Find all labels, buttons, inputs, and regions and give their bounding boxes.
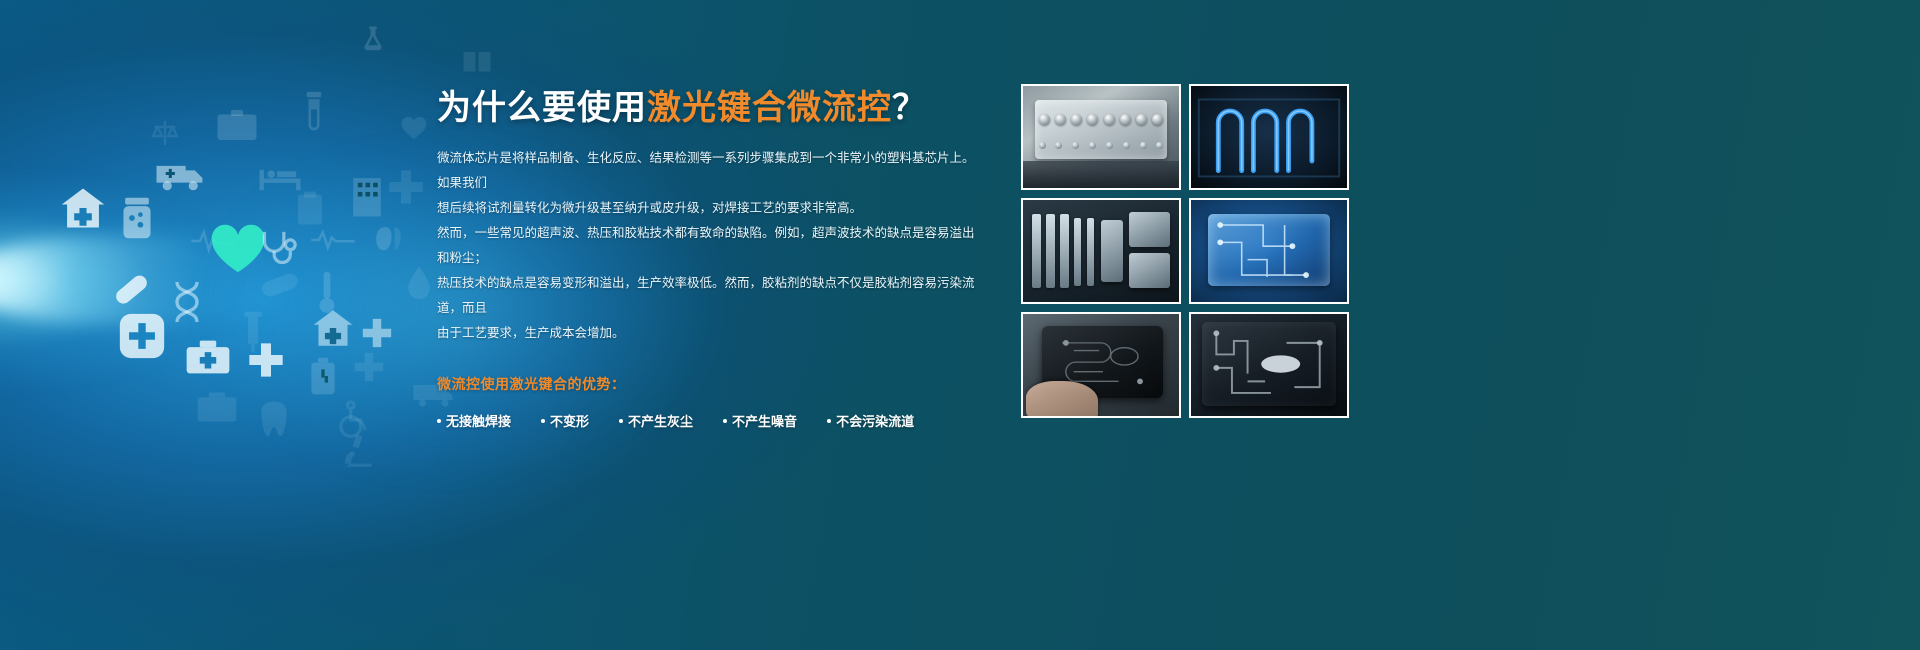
headline-suffix: ？: [892, 89, 927, 127]
blood-drop-icon: [406, 265, 432, 299]
page-title: 为什么要使用激光键合微流控？: [437, 80, 977, 129]
scale-icon: [150, 118, 180, 148]
clipboard-icon: [296, 190, 324, 226]
id-card-icon: [216, 108, 258, 142]
product-photo-grid: [1021, 84, 1349, 418]
body-line-4: 热压技术的缺点是容易变形和溢出，生产效率极低。然而，胶粘剂的缺点不仅是胶粘剂容易…: [437, 271, 977, 321]
list-item: 不变形: [541, 411, 589, 430]
plus-cross-icon: [386, 167, 426, 207]
flask-icon: [358, 18, 388, 60]
bullet-dot-icon: [541, 419, 545, 423]
house-cross-icon: [60, 186, 106, 230]
hospital-bed-icon: [258, 165, 302, 195]
thermometer-icon: [316, 270, 338, 314]
list-item: 不会污染流道: [827, 411, 914, 430]
list-item: 无接触焊接: [437, 411, 511, 430]
list-item: 不产生噪音: [723, 411, 797, 430]
tooth-icon: [258, 400, 290, 438]
bullet-dot-icon: [437, 419, 441, 423]
photo-serpentine-channel-chip[interactable]: [1189, 84, 1349, 190]
house-plus-icon: [312, 308, 354, 348]
bullet-dot-icon: [827, 419, 831, 423]
building-icon: [350, 172, 384, 218]
photo-clear-plastic-strips[interactable]: [1021, 198, 1181, 304]
body-line-1: 微流体芯片是将样品制备、生化反应、结果检测等一系列步骤集成到一个非常小的塑料基芯…: [437, 146, 977, 196]
bullet-dot-icon: [723, 419, 727, 423]
body-copy: 微流体芯片是将样品制备、生化反应、结果检测等一系列步骤集成到一个非常小的塑料基芯…: [437, 146, 977, 346]
advantages-title: 微流控使用激光键合的优势：: [437, 374, 977, 394]
body-line-2: 想后续将试剂量转化为微升级甚至纳升或皮升级，对焊接工艺的要求非常高。: [437, 196, 977, 221]
pill-icon: [110, 268, 152, 310]
cross-icon: [246, 340, 286, 380]
body-line-5: 由于工艺要求，生产成本会增加。: [437, 321, 977, 346]
battery-icon: [308, 356, 338, 396]
advantage-label: 无接触焊接: [446, 411, 511, 430]
ecg-line-icon: [310, 228, 356, 252]
ecg-icon: [190, 228, 240, 254]
wheelchair-icon: [336, 400, 372, 440]
microscope-icon: [340, 432, 378, 470]
advantage-label: 不产生灰尘: [628, 411, 693, 430]
promo-banner: 为什么要使用激光键合微流控？ 微流体芯片是将样品制备、生化反应、结果检测等一系列…: [0, 0, 1920, 650]
light-beam-glow: [0, 130, 500, 430]
book-icon: [462, 48, 492, 74]
heart-small-icon: [400, 115, 428, 141]
pill-bottle-icon: [120, 196, 154, 240]
list-item: 不产生灰尘: [619, 411, 693, 430]
shield-cross-icon: [118, 312, 166, 360]
bandage-icon: [260, 272, 300, 298]
photo-black-film-cartridge-in-hand[interactable]: [1021, 312, 1181, 418]
syringe-icon: [240, 310, 266, 354]
advantages-list: 无接触焊接 不变形 不产生灰尘 不产生噪音 不会污染流道: [437, 411, 977, 430]
body-line-3: 然而，一些常见的超声波、热压和胶粘技术都有致命的缺陷。例如，超声波技术的缺点是容…: [437, 221, 977, 271]
plus-outline-icon: [352, 350, 386, 384]
advantage-label: 不产生噪音: [732, 411, 797, 430]
photo-microfluidic-chip-wells[interactable]: [1021, 84, 1181, 190]
light-beam-core: [0, 235, 300, 325]
heart-pulse-icon: [210, 224, 266, 274]
bullet-dot-icon: [619, 419, 623, 423]
kidney-icon: [370, 224, 410, 264]
test-tube-icon: [303, 90, 325, 134]
photo-blue-molded-manifold[interactable]: [1189, 198, 1349, 304]
headline-prefix: 为什么要使用: [437, 89, 647, 127]
plus-small-icon: [360, 316, 394, 350]
dna-icon: [172, 280, 202, 324]
ambulance-icon: [155, 158, 207, 192]
first-aid-kit-icon: [185, 338, 231, 376]
photo-black-cartridge-channels[interactable]: [1189, 312, 1349, 418]
stethoscope-icon: [258, 228, 300, 268]
advantage-label: 不变形: [550, 411, 589, 430]
medical-bag-icon: [196, 390, 238, 424]
text-column: 为什么要使用激光键合微流控？ 微流体芯片是将样品制备、生化反应、结果检测等一系列…: [437, 80, 977, 430]
headline-highlight: 激光键合微流控: [647, 89, 892, 127]
advantage-label: 不会污染流道: [836, 411, 914, 430]
